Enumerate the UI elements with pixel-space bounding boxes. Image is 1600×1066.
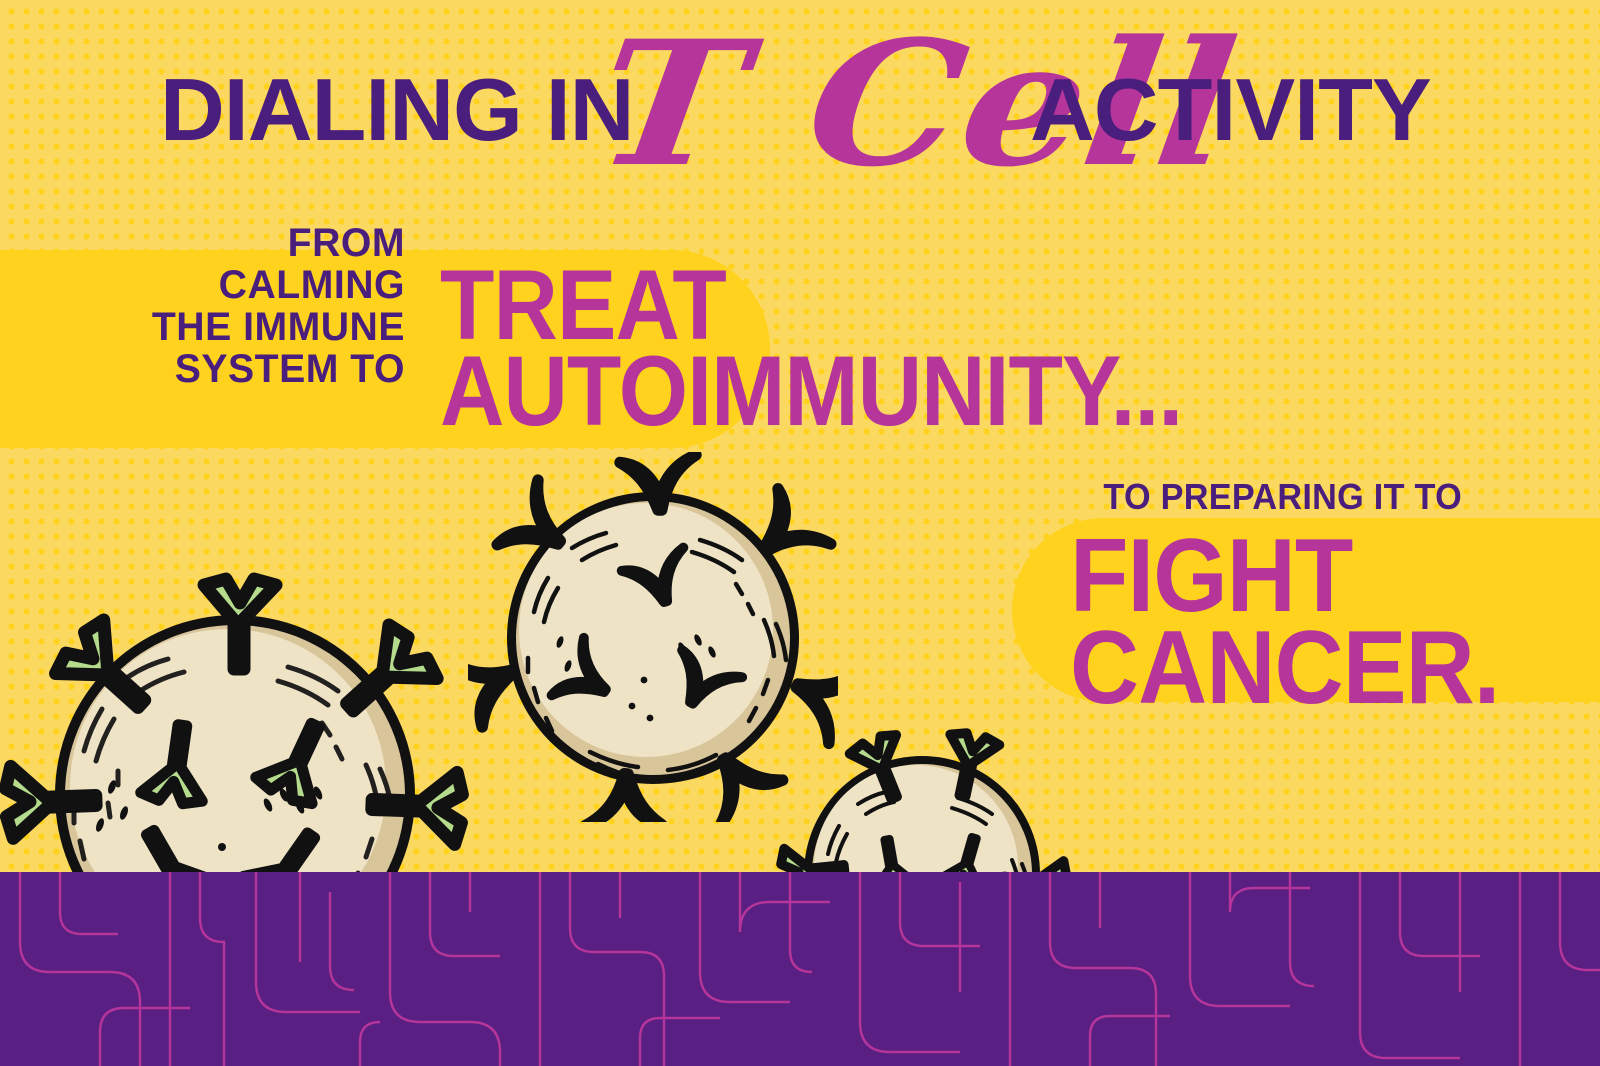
left-kicker-line-3: THE IMMUNE xyxy=(67,306,405,348)
poster-canvas: DIALING IN T Cell ACTIVITY FROM CALMING … xyxy=(0,0,1600,1066)
left-kicker-line-1: FROM xyxy=(67,222,405,264)
footer-purple-band xyxy=(0,872,1600,1066)
left-kicker-text: FROM CALMING THE IMMUNE SYSTEM TO xyxy=(67,222,405,390)
left-kicker-line-2: CALMING xyxy=(67,264,405,306)
headline: DIALING IN T Cell ACTIVITY xyxy=(0,52,1600,162)
headline-right-word: ACTIVITY xyxy=(1030,66,1431,154)
left-emphasis-line-2: AUTOIMMUNITY... xyxy=(440,348,1182,434)
left-kicker-line-4: SYSTEM TO xyxy=(67,348,405,390)
right-emphasis-line-1: FIGHT xyxy=(1070,530,1499,622)
right-emphasis-text: FIGHT CANCER. xyxy=(1070,530,1499,714)
right-emphasis-line-2: CANCER. xyxy=(1070,622,1499,714)
headline-left-word: DIALING IN xyxy=(160,66,633,154)
left-emphasis-text: TREAT AUTOIMMUNITY... xyxy=(440,262,1182,434)
circuit-line-pattern xyxy=(0,872,1600,1066)
